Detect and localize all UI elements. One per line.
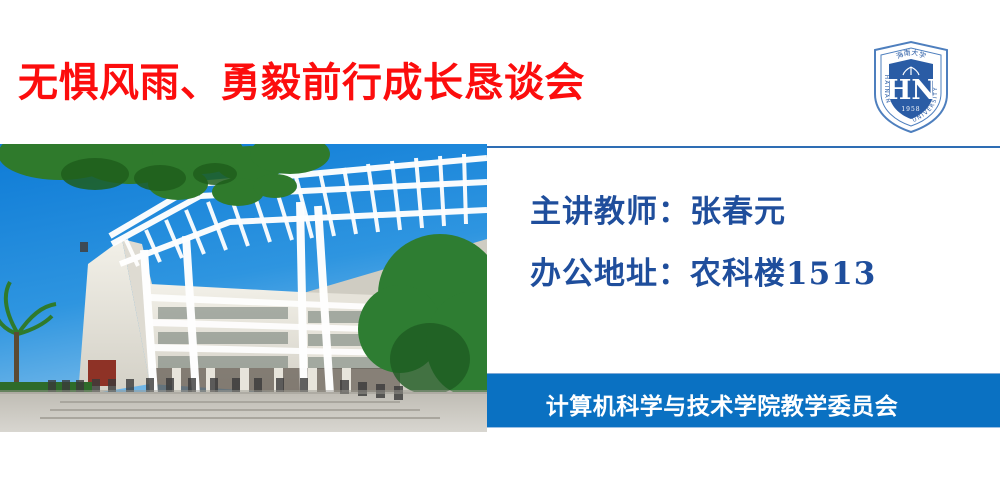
svg-text:HN: HN <box>886 75 936 106</box>
department-name: 计算机科学与技术学院教学委员会 <box>487 387 957 421</box>
office-address-line: 办公地址：农科楼1513 <box>530 248 876 293</box>
campus-building-photo <box>0 144 487 432</box>
hainan-university-logo-icon: HN 1958 海南大学 HAINAN UNIVERSITY <box>865 36 957 136</box>
presentation-slide: 无惧风雨、勇毅前行成长恳谈会 HN 1958 海南大学 <box>0 0 1000 492</box>
svg-text:1958: 1958 <box>901 106 920 113</box>
slide-header: 无惧风雨、勇毅前行成长恳谈会 HN 1958 海南大学 <box>0 0 1000 144</box>
page-title: 无惧风雨、勇毅前行成长恳谈会 <box>18 58 718 108</box>
speaker-info-panel: 主讲教师：张春元 办公地址：农科楼1513 <box>487 148 1000 370</box>
instructor-line: 主讲教师：张春元 <box>530 186 786 231</box>
department-footer-bar: 计算机科学与技术学院教学委员会 <box>487 373 1000 428</box>
